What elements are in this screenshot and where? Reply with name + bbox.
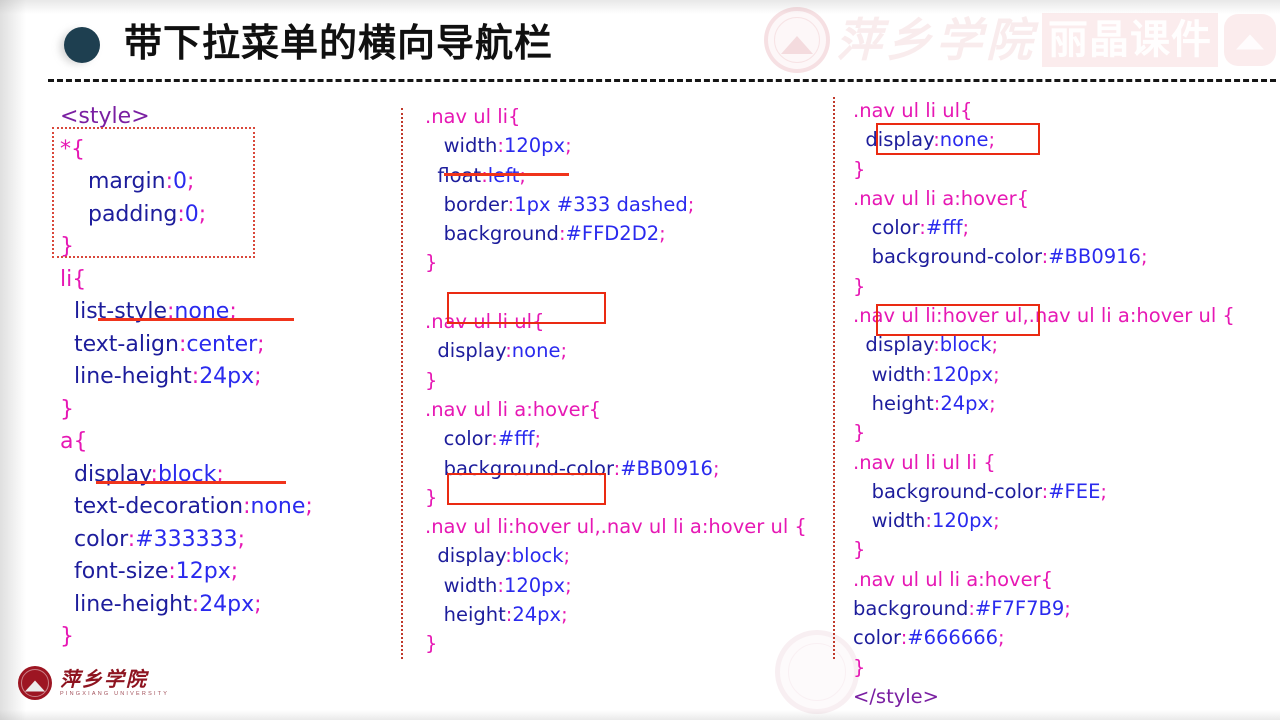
code-token: :	[243, 494, 250, 519]
code-line: width:120px;	[425, 131, 807, 160]
code-token: 1px #333 dashed	[514, 193, 688, 216]
code-token: }	[425, 251, 437, 274]
code-token: #666666	[907, 626, 998, 649]
code-line: }	[60, 394, 313, 427]
code-token: .nav ul ul li a:hover{	[853, 568, 1053, 591]
code-line: float:left;	[425, 161, 807, 190]
code-token: 24px	[940, 392, 989, 415]
code-token: #BB0916	[620, 457, 713, 480]
code-line: .nav ul li{	[425, 102, 807, 131]
code-token: background	[853, 597, 968, 620]
code-token: #fff	[498, 427, 535, 450]
code-token: #333333	[135, 527, 237, 552]
code-token: a{	[60, 429, 87, 454]
code-column-3: .nav ul li ul{ display:none;}.nav ul li …	[853, 96, 1235, 711]
code-token: :	[177, 202, 184, 227]
watermark-calligraphy: 萍乡学院	[836, 10, 1036, 70]
watermark-brand-label: 丽晶课件	[1048, 15, 1212, 65]
code-line: }	[853, 272, 1235, 301]
code-token: left	[488, 164, 520, 187]
code-token: <style>	[60, 104, 150, 129]
code-token: 120px	[932, 509, 993, 532]
code-token: :	[151, 462, 158, 487]
code-token: :	[497, 574, 504, 597]
footer-logo: 萍乡学院 PINGXIANG UNIVERSITY	[18, 666, 169, 700]
code-token: .nav ul li a:hover{	[425, 398, 601, 421]
code-line: a{	[60, 426, 313, 459]
code-token: #BB0916	[1048, 245, 1141, 268]
code-token: ;	[564, 544, 571, 567]
code-token: :	[497, 134, 504, 157]
code-line: .nav ul ul li a:hover{	[853, 565, 1235, 594]
code-token: height	[425, 603, 506, 626]
code-token: :	[505, 339, 512, 362]
watermark-brand-box: 丽晶课件	[1042, 13, 1218, 67]
code-token: ;	[659, 222, 666, 245]
code-token: }	[425, 632, 437, 655]
code-token: ;	[963, 216, 970, 239]
code-token: ;	[535, 427, 542, 450]
code-line: <style>	[60, 101, 313, 134]
page-title: 带下拉菜单的横向导航栏	[124, 18, 553, 68]
code-token: text-align	[60, 332, 179, 357]
code-token: none	[251, 494, 306, 519]
header-watermark-group: 萍乡学院 丽晶课件	[764, 4, 1280, 76]
title-divider	[48, 79, 1276, 82]
code-token: *{	[60, 137, 85, 162]
code-line: }	[425, 366, 807, 395]
code-token: 0	[185, 202, 199, 227]
code-line: .nav ul li a:hover{	[853, 184, 1235, 213]
code-line: padding:0;	[60, 199, 313, 232]
code-token: ;	[989, 392, 996, 415]
code-line: line-height:24px;	[60, 361, 313, 394]
code-token: 24px	[199, 592, 254, 617]
footer-logo-text: 萍乡学院 PINGXIANG UNIVERSITY	[60, 669, 169, 698]
code-listing-area: <style>*{ margin:0; padding:0;}li{ list-…	[0, 92, 1280, 662]
code-line: font-size:12px;	[60, 556, 313, 589]
code-token: padding	[60, 202, 177, 227]
code-token: width	[853, 509, 925, 532]
house-badge-icon	[1224, 14, 1276, 66]
code-line: text-decoration:none;	[60, 491, 313, 524]
code-token: #FFD2D2	[566, 222, 660, 245]
code-token: background-color	[425, 457, 614, 480]
code-token: background-color	[853, 245, 1042, 268]
code-line: .nav ul li:hover ul,.nav ul li a:hover u…	[425, 512, 807, 541]
code-line: line-height:24px;	[60, 589, 313, 622]
code-line: display:none;	[853, 125, 1235, 154]
code-token: ;	[713, 457, 720, 480]
code-token: }	[853, 421, 865, 444]
code-token: none	[512, 339, 561, 362]
code-line: }	[425, 629, 807, 658]
code-token: 120px	[932, 363, 993, 386]
code-token: ;	[1141, 245, 1148, 268]
code-token: .nav ul li:hover ul,.nav ul li a:hover u…	[853, 304, 1235, 327]
code-token: :	[559, 222, 566, 245]
code-token: center	[186, 332, 257, 357]
code-line: display:none;	[425, 336, 807, 365]
code-token: none	[174, 299, 229, 324]
code-token: ;	[1100, 480, 1107, 503]
code-line: }	[853, 155, 1235, 184]
code-line: list-style:none;	[60, 296, 313, 329]
code-line: .nav ul li ul{	[425, 307, 807, 336]
code-token: }	[425, 486, 437, 509]
code-line: .nav ul li a:hover{	[425, 395, 807, 424]
code-line: height:24px;	[425, 600, 807, 629]
code-token: ;	[565, 574, 572, 597]
code-line: color:#fff;	[853, 213, 1235, 242]
code-line: color:#333333;	[60, 524, 313, 557]
code-token: }	[853, 275, 865, 298]
code-token: display	[853, 333, 933, 356]
code-token: 120px	[504, 574, 565, 597]
code-token: .nav ul li ul{	[853, 99, 972, 122]
code-token: 24px	[512, 603, 561, 626]
code-line: background-color:#BB0916;	[425, 454, 807, 483]
code-token: ;	[216, 462, 223, 487]
code-token: line-height	[60, 592, 192, 617]
code-token: :	[933, 128, 940, 151]
code-token: :	[505, 544, 512, 567]
code-line: }	[853, 535, 1235, 564]
code-token: .nav ul li a:hover{	[853, 187, 1029, 210]
code-token: margin	[60, 169, 166, 194]
code-line: text-align:center;	[60, 329, 313, 362]
column-separator-2	[833, 97, 835, 659]
slide-root: 带下拉菜单的横向导航栏 萍乡学院 丽晶课件 <style>*{ margin:0…	[0, 0, 1280, 720]
code-token: :	[919, 216, 926, 239]
code-token: }	[60, 234, 74, 259]
code-token: .nav ul li{	[425, 105, 520, 128]
code-token: none	[940, 128, 989, 151]
code-token: ;	[238, 527, 245, 552]
code-line: display:block;	[853, 330, 1235, 359]
code-column-1: <style>*{ margin:0; padding:0;}li{ list-…	[60, 101, 313, 654]
code-token: ;	[993, 363, 1000, 386]
code-token: 120px	[504, 134, 565, 157]
code-token: }	[853, 538, 865, 561]
code-token: display	[853, 128, 933, 151]
code-line: background-color:#FEE;	[853, 477, 1235, 506]
code-token: block	[940, 333, 992, 356]
code-token: font-size	[60, 559, 168, 584]
code-token: 12px	[176, 559, 231, 584]
code-token: ;	[565, 134, 572, 157]
code-line: margin:0;	[60, 166, 313, 199]
code-line: width:120px;	[853, 360, 1235, 389]
code-token: list-style	[60, 299, 167, 324]
footer-logo-en: PINGXIANG UNIVERSITY	[60, 692, 169, 698]
code-line: .nav ul li:hover ul,.nav ul li a:hover u…	[853, 301, 1235, 330]
code-token: :	[925, 509, 932, 532]
code-line: }	[853, 653, 1235, 682]
code-token: text-decoration	[60, 494, 243, 519]
code-token: :	[168, 559, 175, 584]
code-token: ;	[231, 559, 238, 584]
code-line: background:#F7F7B9;	[853, 594, 1235, 623]
code-token: .nav ul li ul li {	[853, 451, 996, 474]
bullet-icon	[64, 27, 100, 63]
code-token: .nav ul li:hover ul,.nav ul li a:hover u…	[425, 515, 807, 538]
code-token: ;	[993, 509, 1000, 532]
code-token: :	[968, 597, 975, 620]
slide-header: 带下拉菜单的横向导航栏 萍乡学院 丽晶课件	[0, 0, 1280, 92]
code-token: width	[853, 363, 925, 386]
code-line: width:120px;	[853, 506, 1235, 535]
code-line: color:#fff;	[425, 424, 807, 453]
code-token: ;	[254, 592, 261, 617]
code-line: }	[853, 418, 1235, 447]
code-token: :	[491, 427, 498, 450]
code-token: #FEE	[1048, 480, 1100, 503]
code-token: background-color	[853, 480, 1042, 503]
code-token: ;	[519, 164, 526, 187]
code-token: ;	[1064, 597, 1071, 620]
code-token: height	[853, 392, 934, 415]
code-token: block	[512, 544, 564, 567]
code-token: float	[425, 164, 481, 187]
code-token: line-height	[60, 364, 192, 389]
university-seal-icon	[764, 7, 830, 73]
code-token: ;	[257, 332, 264, 357]
code-token: :	[925, 363, 932, 386]
code-token: display	[60, 462, 151, 487]
code-line: </style>	[853, 682, 1235, 711]
code-line: background:#FFD2D2;	[425, 219, 807, 248]
code-token: :	[166, 169, 173, 194]
code-token: display	[425, 544, 505, 567]
code-token: color	[60, 527, 128, 552]
code-token: 0	[173, 169, 187, 194]
code-token: li{	[60, 267, 86, 292]
code-token: ;	[992, 333, 999, 356]
code-line: *{	[60, 134, 313, 167]
code-line: height:24px;	[853, 389, 1235, 418]
code-token: }	[60, 397, 74, 422]
code-token: ;	[560, 339, 567, 362]
code-token: 24px	[199, 364, 254, 389]
code-line: }	[425, 483, 807, 512]
code-token: ;	[199, 202, 206, 227]
code-token: ;	[305, 494, 312, 519]
code-token: ;	[561, 603, 568, 626]
code-token: width	[425, 134, 497, 157]
code-token: }	[60, 624, 74, 649]
code-token: ;	[229, 299, 236, 324]
code-column-2: .nav ul li{ width:120px; float:left; bor…	[425, 102, 807, 659]
code-token: ;	[998, 626, 1005, 649]
code-token: #F7F7B9	[975, 597, 1064, 620]
code-token: </style>	[853, 685, 939, 708]
code-line: width:120px;	[425, 571, 807, 600]
code-token: color	[425, 427, 491, 450]
pingxiang-university-seal-icon	[18, 666, 52, 700]
code-token: ;	[988, 128, 995, 151]
code-line: }	[425, 248, 807, 277]
code-token: :	[933, 333, 940, 356]
code-line: .nav ul li ul{	[853, 96, 1235, 125]
code-token: :	[481, 164, 488, 187]
code-token: }	[853, 158, 865, 181]
code-token: block	[158, 462, 216, 487]
code-line: }	[60, 231, 313, 264]
code-line: border:1px #333 dashed;	[425, 190, 807, 219]
code-token: display	[425, 339, 505, 362]
code-token: color	[853, 626, 901, 649]
code-line: li{	[60, 264, 313, 297]
code-token: }	[853, 656, 865, 679]
code-line: display:block;	[60, 459, 313, 492]
code-token: ;	[688, 193, 695, 216]
footer-logo-cn: 萍乡学院	[60, 669, 169, 689]
code-token: .nav ul li ul{	[425, 310, 544, 333]
code-token: width	[425, 574, 497, 597]
code-token: color	[853, 216, 919, 239]
code-token: background	[425, 222, 559, 245]
column-separator-1	[401, 108, 403, 659]
code-token: ;	[187, 169, 194, 194]
code-line: color:#666666;	[853, 623, 1235, 652]
code-line: .nav ul li ul li {	[853, 448, 1235, 477]
code-token: border	[425, 193, 508, 216]
code-token: #fff	[926, 216, 963, 239]
code-line: background-color:#BB0916;	[853, 242, 1235, 271]
bottom-edge-shadow	[0, 710, 1280, 720]
code-line	[425, 278, 807, 307]
code-line: display:block;	[425, 541, 807, 570]
code-line: }	[60, 621, 313, 654]
code-token: }	[425, 369, 437, 392]
code-token: ;	[254, 364, 261, 389]
